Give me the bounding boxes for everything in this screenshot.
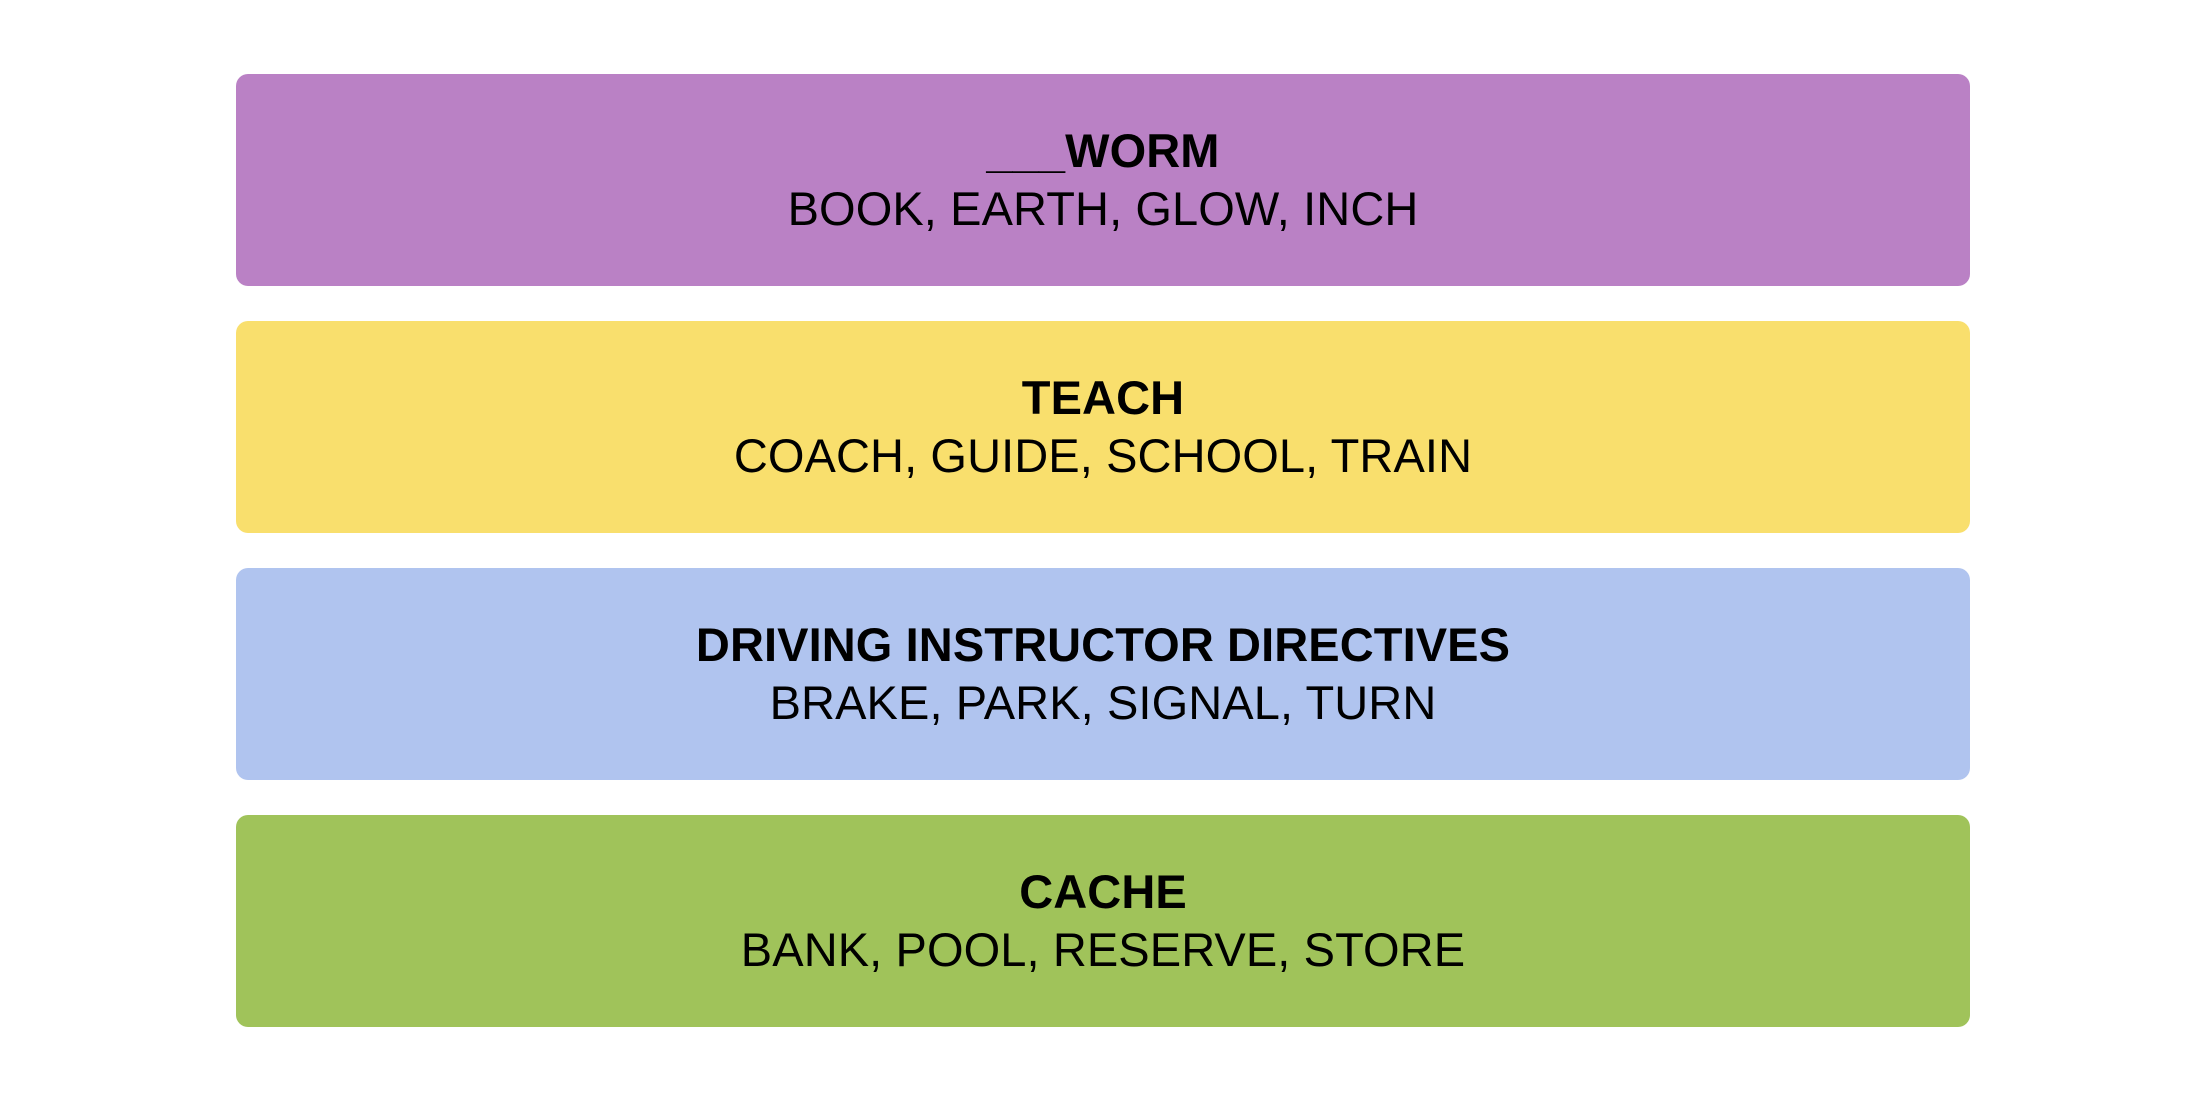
group-title: TEACH <box>1022 373 1184 424</box>
group-title: DRIVING INSTRUCTOR DIRECTIVES <box>696 620 1510 671</box>
connections-solved-board: ___WORM BOOK, EARTH, GLOW, INCH TEACH CO… <box>236 74 1970 1027</box>
group-words: BRAKE, PARK, SIGNAL, TURN <box>770 678 1437 729</box>
solved-group-row-purple[interactable]: ___WORM BOOK, EARTH, GLOW, INCH <box>236 74 1970 286</box>
group-words: BOOK, EARTH, GLOW, INCH <box>788 184 1419 235</box>
group-title: ___WORM <box>986 126 1219 177</box>
solved-group-row-yellow[interactable]: TEACH COACH, GUIDE, SCHOOL, TRAIN <box>236 321 1970 533</box>
group-words: BANK, POOL, RESERVE, STORE <box>741 925 1465 976</box>
group-words: COACH, GUIDE, SCHOOL, TRAIN <box>734 431 1472 482</box>
solved-group-row-blue[interactable]: DRIVING INSTRUCTOR DIRECTIVES BRAKE, PAR… <box>236 568 1970 780</box>
group-title: CACHE <box>1019 867 1187 918</box>
solved-group-row-green[interactable]: CACHE BANK, POOL, RESERVE, STORE <box>236 815 1970 1027</box>
